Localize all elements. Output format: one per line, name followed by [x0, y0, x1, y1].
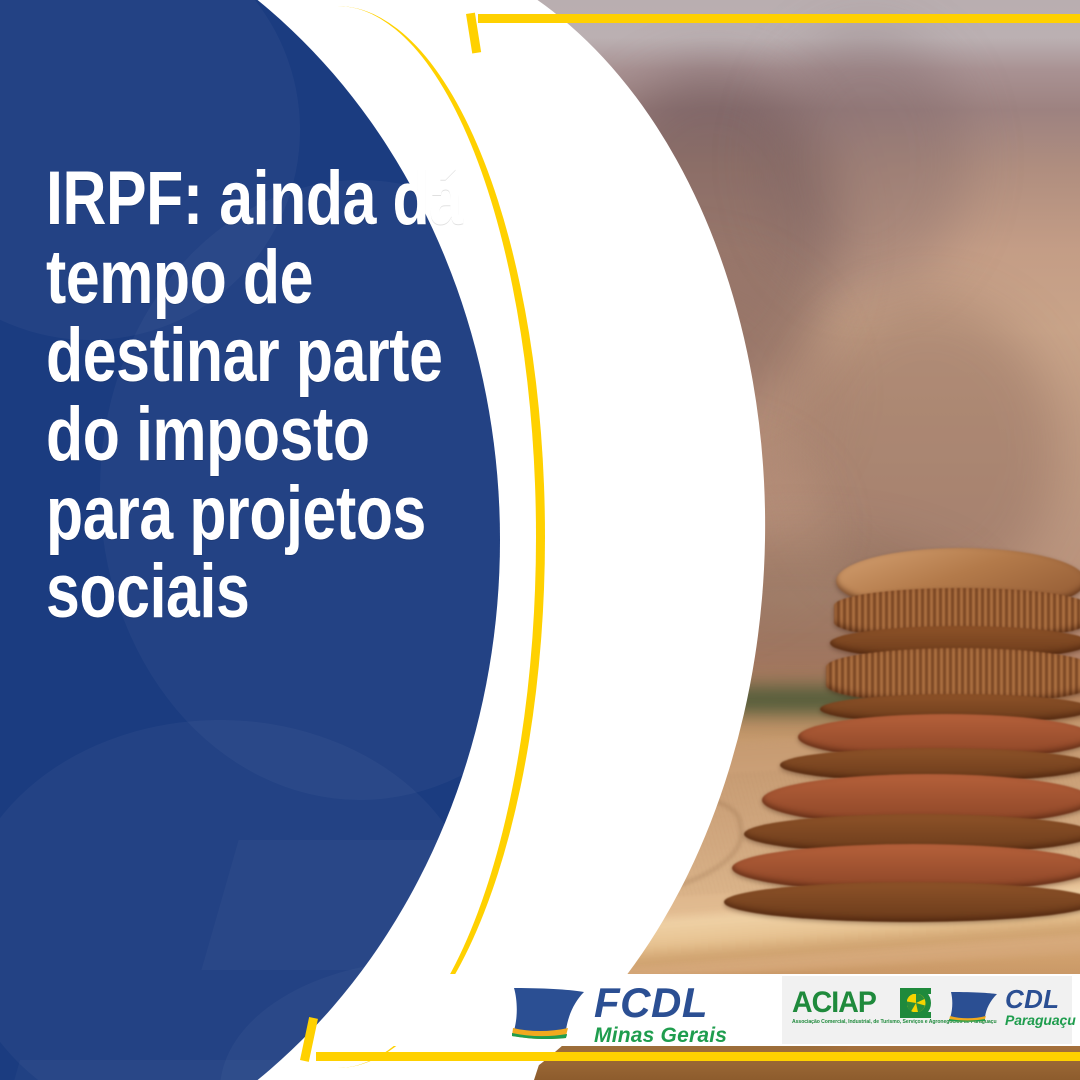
social-media-poster: IRPF: ainda dá tempo de destinar parte d… — [0, 0, 1080, 1080]
yellow-top-line — [478, 14, 1080, 23]
headline-line: para projetos — [46, 475, 390, 554]
fcdl-logo: FCDL Minas Gerais — [510, 982, 735, 1044]
cdl-swoosh-icon — [948, 991, 1000, 1023]
page-title: IRPF: ainda dá tempo de destinar parte d… — [46, 160, 390, 632]
coin — [724, 882, 1080, 922]
headline-line: do imposto — [46, 396, 390, 475]
cdl-city: Paraguaçu — [1005, 1012, 1076, 1028]
coin-stack-icon — [706, 548, 1080, 968]
cdl-wordmark: CDL Paraguaçu — [1005, 986, 1076, 1028]
yellow-bottom-line — [316, 1052, 1080, 1061]
aciap-name: ACIAP — [792, 988, 876, 1018]
partner-logos-box: ACIAP Associação Comercial, Industrial, … — [782, 976, 1072, 1044]
cdl-paraguacu-logo: CDL Paraguaçu — [948, 988, 1068, 1032]
cdl-name: CDL — [1005, 986, 1076, 1012]
photo-blur-blob — [768, 30, 968, 290]
fcdl-wordmark: FCDL Minas Gerais — [594, 982, 727, 1048]
aciap-logo: ACIAP Associação Comercial, Industrial, … — [792, 988, 940, 1032]
fcdl-region: Minas Gerais — [594, 1024, 727, 1048]
headline-line: destinar parte — [46, 317, 390, 396]
aciap-tagline: Associação Comercial, Industrial, de Tur… — [792, 1019, 934, 1025]
headline-line: sociais — [46, 553, 390, 632]
headline-line: IRPF: ainda dá — [46, 160, 390, 239]
headline-line: tempo de — [46, 239, 390, 318]
aciap-aperture-icon — [898, 987, 932, 1019]
fcdl-name: FCDL — [594, 982, 727, 1024]
fcdl-swoosh-icon — [510, 986, 588, 1040]
